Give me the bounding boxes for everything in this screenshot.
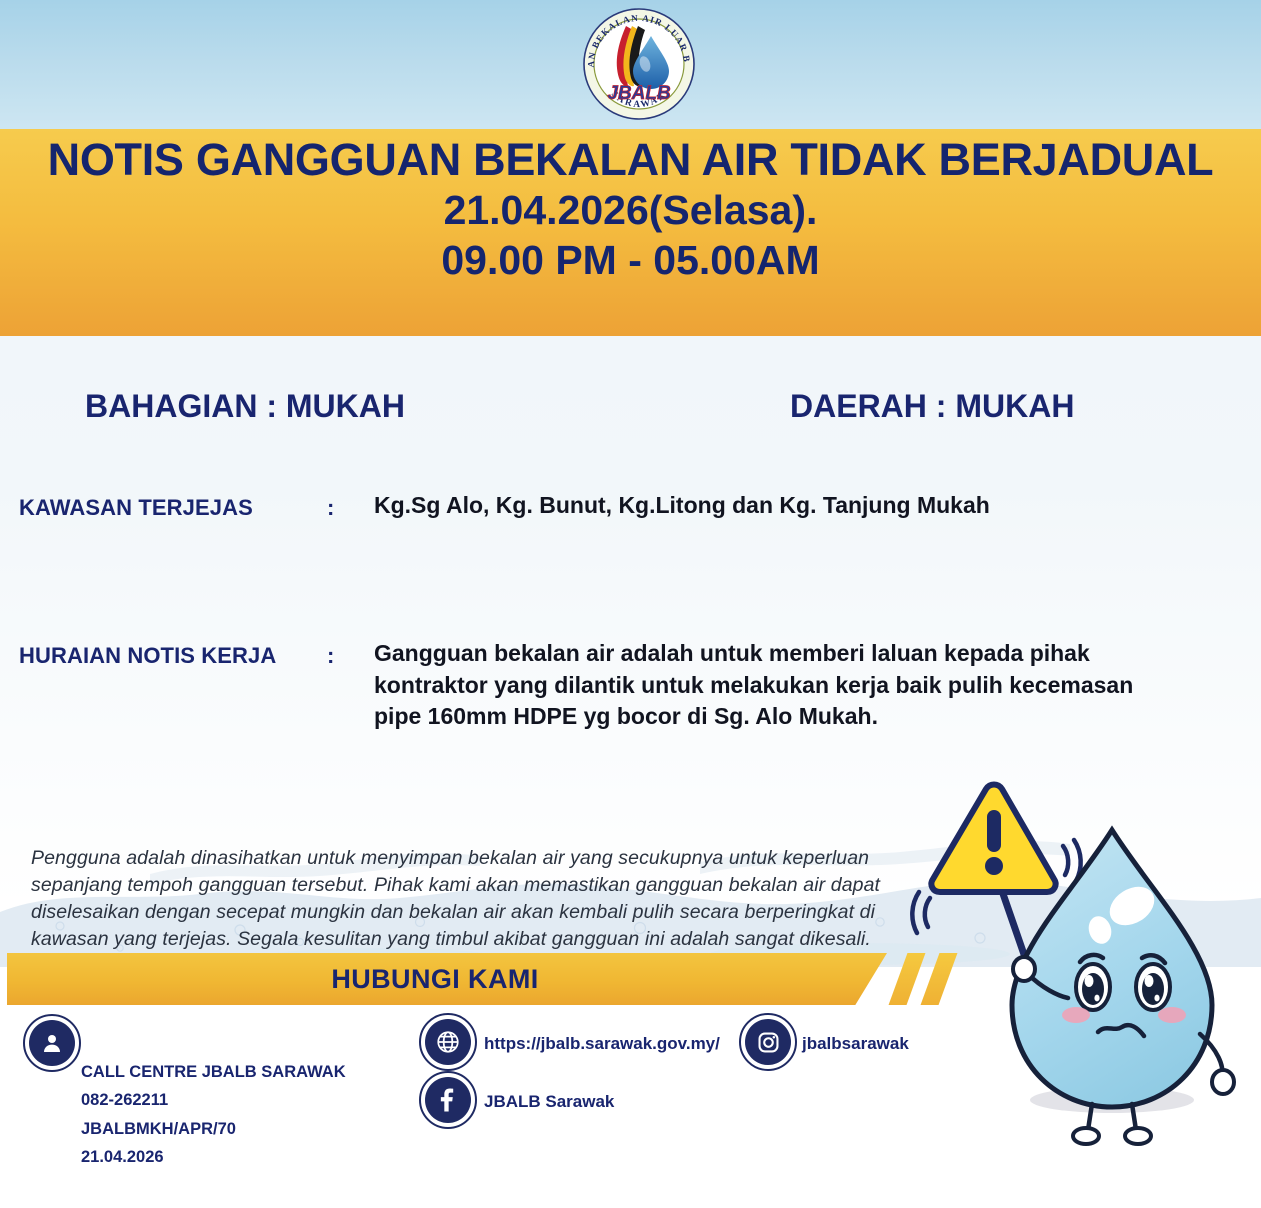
facebook-icon[interactable] xyxy=(425,1077,471,1123)
call-centre-block: CALL CENTRE JBALB SARAWAK 082-262211 JBA… xyxy=(81,1058,346,1172)
issue-date: 21.04.2026 xyxy=(81,1143,346,1171)
warning-triangle-sign xyxy=(931,785,1055,893)
header-band: JABATAN BEKALAN AIR LUAR BANDAR SARAWAK … xyxy=(0,0,1261,129)
instagram-handle[interactable]: jbalbsarawak xyxy=(802,1034,909,1054)
globe-icon[interactable] xyxy=(425,1019,471,1065)
huraian-notis-kerja-label: HURAIAN NOTIS KERJA xyxy=(19,643,309,669)
website-link[interactable]: https://jbalb.sarawak.gov.my/ xyxy=(484,1034,720,1054)
kawasan-colon: : xyxy=(327,495,334,521)
notice-title: NOTIS GANGGUAN BEKALAN AIR TIDAK BERJADU… xyxy=(0,135,1261,185)
call-centre-phone: 082-262211 xyxy=(81,1086,346,1114)
notice-date: 21.04.2026(Selasa). xyxy=(0,185,1261,235)
notice-time: 09.00 PM - 05.00AM xyxy=(0,235,1261,286)
water-droplet-mascot xyxy=(900,770,1261,1170)
instagram-icon[interactable] xyxy=(745,1019,791,1065)
call-centre-title: CALL CENTRE JBALB SARAWAK xyxy=(81,1058,346,1086)
daerah-label: DAERAH : MUKAH xyxy=(790,388,1074,425)
kawasan-terjejas-value: Kg.Sg Alo, Kg. Bunut, Kg.Litong dan Kg. … xyxy=(374,490,1164,522)
bahagian-label: BAHAGIAN : MUKAH xyxy=(85,388,405,425)
region-row: BAHAGIAN : MUKAH DAERAH : MUKAH xyxy=(0,388,1261,430)
banner-title: HUBUNGI KAMI xyxy=(7,953,887,1005)
disclaimer-text: Pengguna adalah dinasihatkan untuk menyi… xyxy=(31,845,906,953)
kawasan-terjejas-label: KAWASAN TERJEJAS xyxy=(19,495,309,521)
title-band: NOTIS GANGGUAN BEKALAN AIR TIDAK BERJADU… xyxy=(0,129,1261,336)
facebook-link[interactable]: JBALB Sarawak xyxy=(484,1092,614,1112)
huraian-colon: : xyxy=(327,643,334,669)
jbalb-logo-seal-icon: JABATAN BEKALAN AIR LUAR BANDAR SARAWAK … xyxy=(581,4,697,122)
huraian-notis-kerja-value: Gangguan bekalan air adalah untuk member… xyxy=(374,638,1164,733)
notice-poster: JABATAN BEKALAN AIR LUAR BANDAR SARAWAK … xyxy=(0,0,1261,1208)
reference-number: JBALBMKH/APR/70 xyxy=(81,1115,346,1143)
person-icon[interactable] xyxy=(29,1020,75,1066)
svg-text:JBALB: JBALB xyxy=(607,83,671,104)
